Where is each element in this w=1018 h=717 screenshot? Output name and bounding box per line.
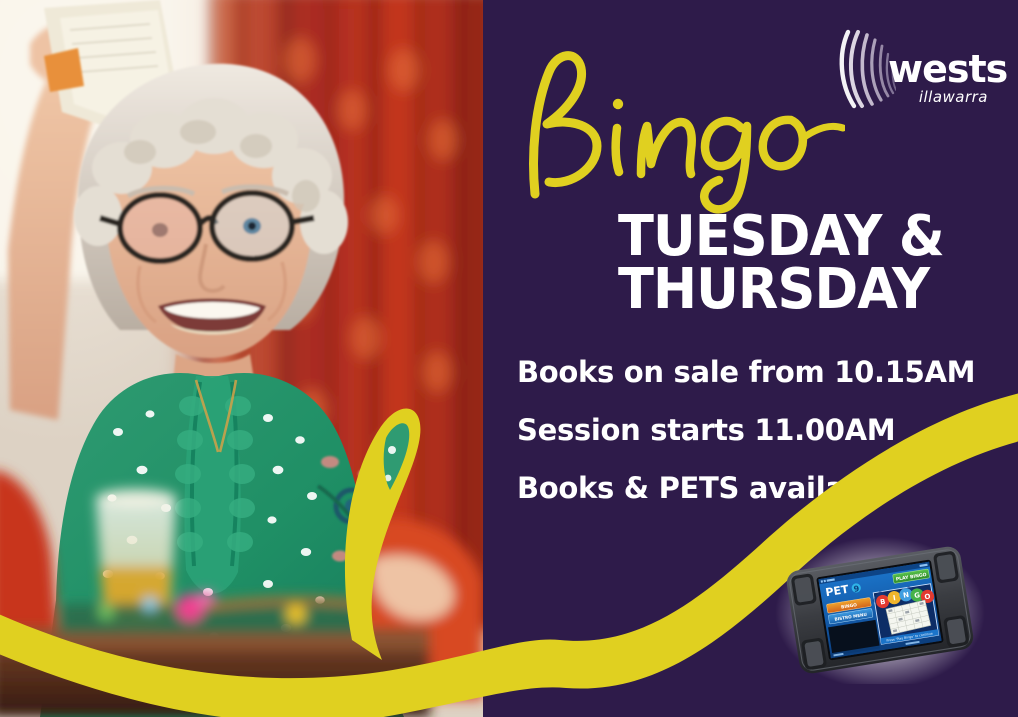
details-list: Books on sale from 10.15AM Session start… [517,358,997,532]
feather-fan-icon [836,26,896,112]
wests-illawarra-logo: wests illawarra [836,26,988,112]
detail-line-session-starts: Session starts 11.00AM [517,416,997,445]
detail-line-books-on-sale: Books on sale from 10.15AM [517,358,997,387]
bingo-script-title: Bingo [505,42,845,217]
logo-subtitle: illawarra [919,90,988,105]
pets-tablet-device: PET 9 PLAY BINGO BINGO BISTRO MENU [780,540,980,680]
detail-line-books-and-pets: Books & PETS available [517,474,997,503]
bingo-promo-banner: wests illawarra Bingo [0,0,1018,717]
logo-wordmark: wests [888,50,1007,88]
page-title: TUESDAY & THURSDAY [618,210,994,316]
headline-line-1: TUESDAY & [618,210,994,263]
hero-photo [0,0,483,717]
hero-photo-illustration [0,0,483,717]
headline-line-2: THURSDAY [618,263,994,316]
pets-tablet-illustration: PET 9 PLAY BINGO BINGO BISTRO MENU [780,540,980,680]
